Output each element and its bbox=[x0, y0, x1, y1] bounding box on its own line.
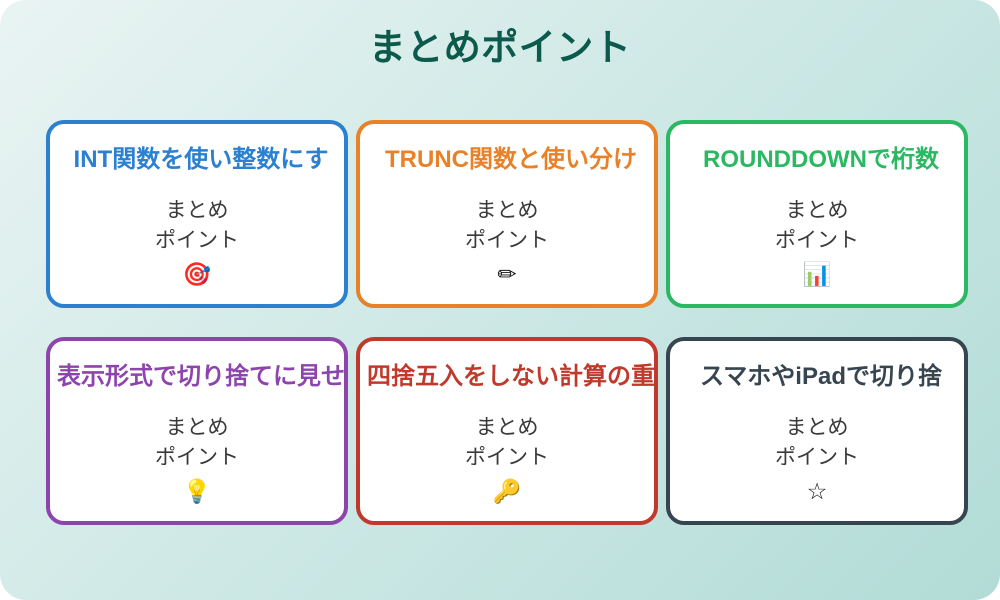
summary-points-slide: まとめポイント INT関数を使い整数にす まとめ ポイント 🎯 TRUNC関数と… bbox=[0, 0, 1000, 600]
card-title: スマホやiPadで切り捨 bbox=[660, 363, 982, 391]
card-title: ROUNDDOWNで桁数 bbox=[660, 146, 982, 174]
dart-target-icon: 🎯 bbox=[50, 264, 344, 287]
card-body: まとめ ポイント bbox=[360, 196, 654, 257]
summary-card[interactable]: ROUNDDOWNで桁数 まとめ ポイント 📊 bbox=[666, 120, 968, 308]
card-title: INT関数を使い整数にす bbox=[40, 146, 362, 174]
card-body: まとめ ポイント bbox=[670, 413, 964, 474]
card-title: 表示形式で切り捨てに見せ bbox=[40, 363, 362, 391]
star-icon: ☆ bbox=[670, 481, 964, 504]
card-title: 四捨五入をしない計算の重 bbox=[350, 363, 672, 391]
light-bulb-icon: 💡 bbox=[50, 481, 344, 504]
card-title: TRUNC関数と使い分け bbox=[350, 146, 672, 174]
summary-card[interactable]: スマホやiPadで切り捨 まとめ ポイント ☆ bbox=[666, 337, 968, 525]
card-body: まとめ ポイント bbox=[670, 196, 964, 257]
card-body: まとめ ポイント bbox=[360, 413, 654, 474]
summary-card[interactable]: 表示形式で切り捨てに見せ まとめ ポイント 💡 bbox=[46, 337, 348, 525]
bar-chart-icon: 📊 bbox=[670, 264, 964, 287]
summary-card-grid: INT関数を使い整数にす まとめ ポイント 🎯 TRUNC関数と使い分け まとめ… bbox=[46, 120, 968, 520]
summary-card[interactable]: TRUNC関数と使い分け まとめ ポイント ✏ bbox=[356, 120, 658, 308]
pencil-icon: ✏ bbox=[360, 264, 654, 287]
summary-card[interactable]: 四捨五入をしない計算の重 まとめ ポイント 🔑 bbox=[356, 337, 658, 525]
key-icon: 🔑 bbox=[360, 481, 654, 504]
page-title: まとめポイント bbox=[0, 26, 1000, 70]
card-body: まとめ ポイント bbox=[50, 413, 344, 474]
summary-card[interactable]: INT関数を使い整数にす まとめ ポイント 🎯 bbox=[46, 120, 348, 308]
card-body: まとめ ポイント bbox=[50, 196, 344, 257]
